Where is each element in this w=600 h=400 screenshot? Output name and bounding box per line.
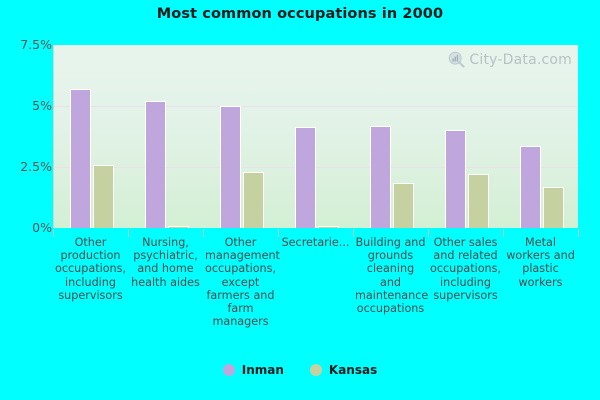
watermark-text: City-Data.com [469,52,572,68]
x-axis-label: Building and grounds cleaning and mainte… [355,236,426,315]
x-axis-tick [503,229,504,237]
bar-kansas [93,165,114,228]
bar-kansas [468,174,489,228]
legend: InmanKansas [0,363,600,377]
gridline [54,106,578,107]
x-axis-label: Metal workers and plastic workers [505,236,576,289]
bar-kansas [393,183,414,228]
bar-inman [70,89,91,228]
y-axis-tick-label: 0% [0,220,52,235]
y-axis-tick-label: 5% [0,98,52,113]
bar-inman [145,101,166,228]
plot-area: City-Data.com [53,45,578,228]
x-axis-label: Other sales and related occupations, inc… [430,236,501,302]
bar-kansas [543,187,564,228]
legend-swatch-icon [310,364,322,376]
x-axis-label: Other production occupations, including … [55,236,126,302]
x-axis-label: Secretarie... [280,236,351,249]
x-axis-tick [278,229,279,237]
legend-label: Inman [242,363,284,377]
bar-inman [370,126,391,228]
x-axis-tick [53,229,54,237]
y-axis-tick-label: 7.5% [0,37,52,52]
watermark: City-Data.com [448,51,572,68]
bar-inman [220,106,241,228]
x-axis-tick [203,229,204,237]
bar-kansas [168,226,189,229]
y-axis-tick-label: 2.5% [0,159,52,174]
chart-container: Most common occupations in 2000 City-Dat… [0,0,600,400]
bar-inman [295,127,316,228]
x-axis-tick [428,229,429,237]
x-axis-tick [578,229,579,237]
legend-swatch-icon [223,364,235,376]
x-axis-label: Nursing, psychiatric, and home health ai… [130,236,201,289]
legend-label: Kansas [329,363,377,377]
gridline [54,167,578,168]
x-axis-tick [353,229,354,237]
legend-item-kansas[interactable]: Kansas [310,363,377,377]
bar-kansas [243,172,264,228]
x-axis-label: Other management occupations, except far… [205,236,276,328]
chart-title: Most common occupations in 2000 [0,6,600,22]
bar-inman [445,130,466,228]
x-axis-tick [128,229,129,237]
bar-kansas [318,226,339,229]
bar-inman [520,146,541,228]
magnifier-bar-chart-icon [448,51,465,68]
legend-item-inman[interactable]: Inman [223,363,284,377]
